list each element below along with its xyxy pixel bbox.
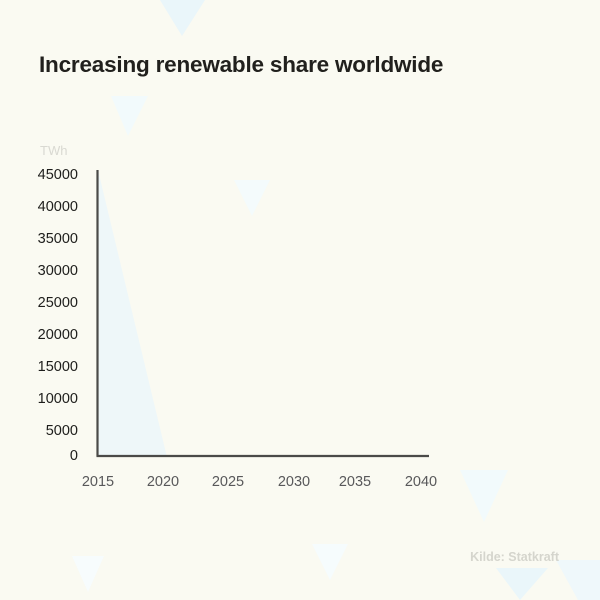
source-credit: Kilde: Statkraft xyxy=(470,550,559,564)
y-tick-label: 25000 xyxy=(22,295,78,311)
x-tick-label: 2020 xyxy=(133,474,193,490)
x-tick-label: 2015 xyxy=(68,474,128,490)
y-tick-label: 35000 xyxy=(22,231,78,247)
plot-area xyxy=(0,0,600,600)
chart-container: Increasing renewable share worldwide TWh… xyxy=(0,0,600,600)
y-tick-label: 40000 xyxy=(22,199,78,215)
x-tick-label: 2025 xyxy=(198,474,258,490)
y-tick-label: 0 xyxy=(22,448,78,464)
y-tick-label: 30000 xyxy=(22,263,78,279)
x-tick-label: 2030 xyxy=(264,474,324,490)
area-series-renewable-share xyxy=(98,170,167,456)
y-tick-label: 5000 xyxy=(22,423,78,439)
y-axis-unit-label: TWh xyxy=(40,143,67,158)
y-tick-label: 45000 xyxy=(22,167,78,183)
y-tick-label: 20000 xyxy=(22,327,78,343)
x-tick-label: 2035 xyxy=(325,474,385,490)
x-tick-label: 2040 xyxy=(391,474,451,490)
chart-title: Increasing renewable share worldwide xyxy=(39,52,443,78)
y-tick-label: 10000 xyxy=(22,391,78,407)
y-tick-label: 15000 xyxy=(22,359,78,375)
